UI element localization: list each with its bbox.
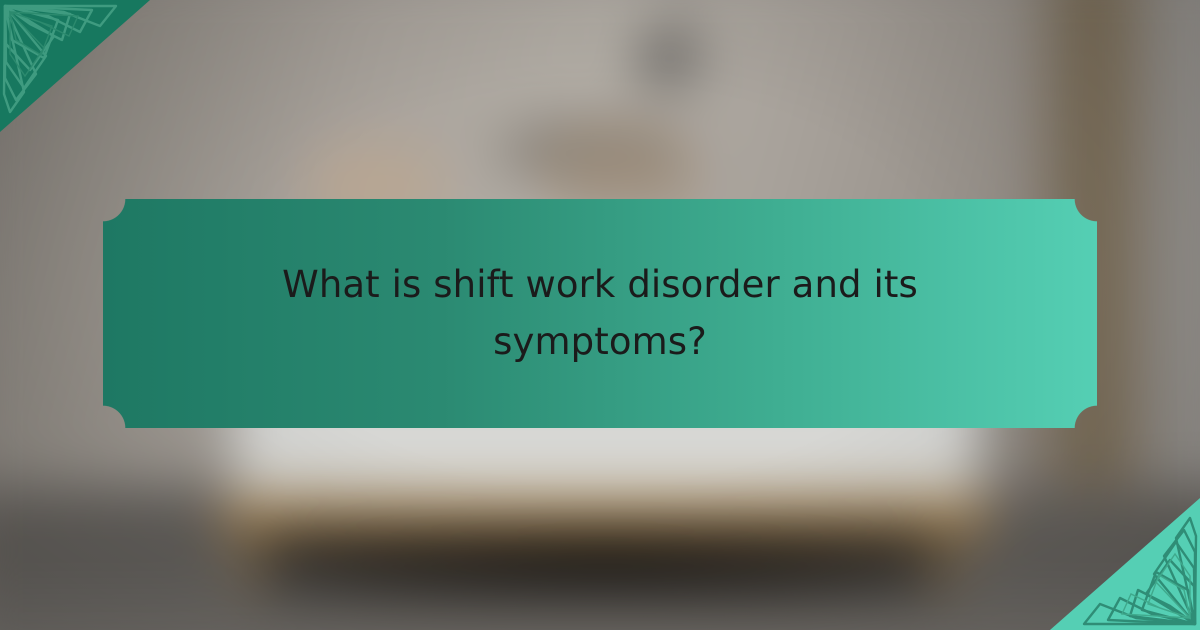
question-card: What is shift work disorder and its symp… xyxy=(103,199,1097,428)
page-canvas: What is shift work disorder and its symp… xyxy=(0,0,1200,630)
question-title: What is shift work disorder and its symp… xyxy=(160,257,1040,369)
